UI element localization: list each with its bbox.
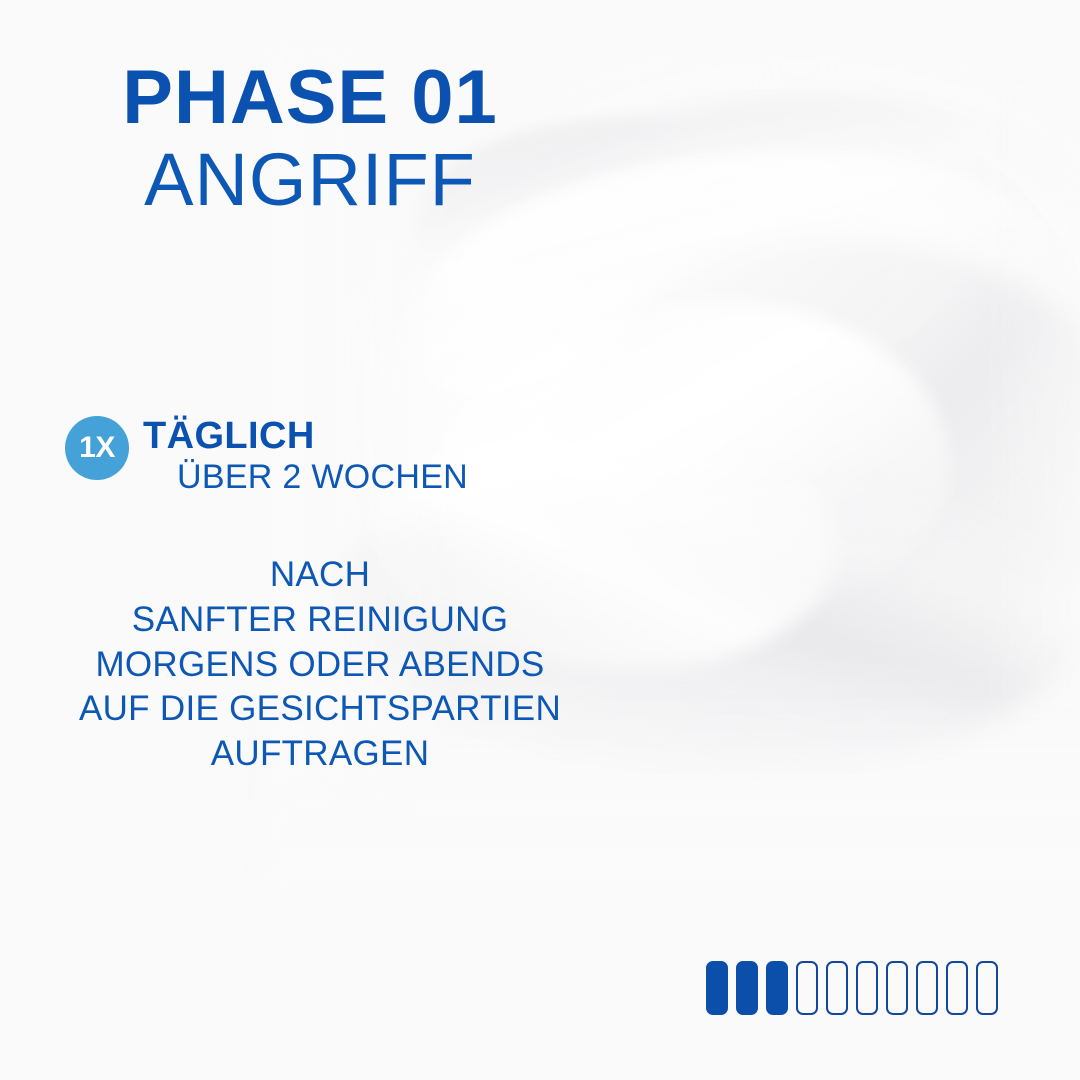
progress-bar-5 (826, 961, 848, 1015)
progress-bar-6 (856, 961, 878, 1015)
headline-phase-name: ANGRIFF (0, 142, 620, 217)
headline-phase: PHASE 01 (0, 62, 620, 134)
frequency-block: 1X TÄGLICH ÜBER 2 WOCHEN (65, 414, 468, 496)
progress-bar-3 (766, 961, 788, 1015)
progress-bar-4 (796, 961, 818, 1015)
headline-block: PHASE 01 ANGRIFF (0, 62, 620, 218)
progress-bar-9 (946, 961, 968, 1015)
poster-canvas: PHASE 01 ANGRIFF 1X TÄGLICH ÜBER 2 WOCHE… (0, 0, 1080, 1080)
progress-bar-2 (736, 961, 758, 1015)
cream-swirl-diagonal-fold (560, 240, 1080, 660)
instruction-line: MORGENS ODER ABENDS (60, 643, 580, 688)
progress-bar-1 (706, 961, 728, 1015)
frequency-duration-label: ÜBER 2 WOCHEN (177, 459, 468, 496)
progress-indicator (706, 961, 998, 1015)
progress-bar-10 (976, 961, 998, 1015)
instruction-line: AUFTRAGEN (60, 732, 580, 777)
progress-bar-7 (886, 961, 908, 1015)
instructions-block: NACH SANFTER REINIGUNG MORGENS ODER ABEN… (60, 553, 580, 777)
frequency-badge-label: 1X (79, 433, 115, 463)
instruction-line: AUF DIE GESICHTSPARTIEN (60, 687, 580, 732)
instruction-line: SANFTER REINIGUNG (60, 598, 580, 643)
frequency-text-group: TÄGLICH ÜBER 2 WOCHEN (143, 414, 468, 496)
frequency-primary-label: TÄGLICH (143, 416, 468, 457)
instruction-line: NACH (60, 553, 580, 598)
cream-swirl-right-falloff (980, 80, 1080, 720)
progress-bar-8 (916, 961, 938, 1015)
frequency-badge-circle: 1X (65, 416, 129, 480)
